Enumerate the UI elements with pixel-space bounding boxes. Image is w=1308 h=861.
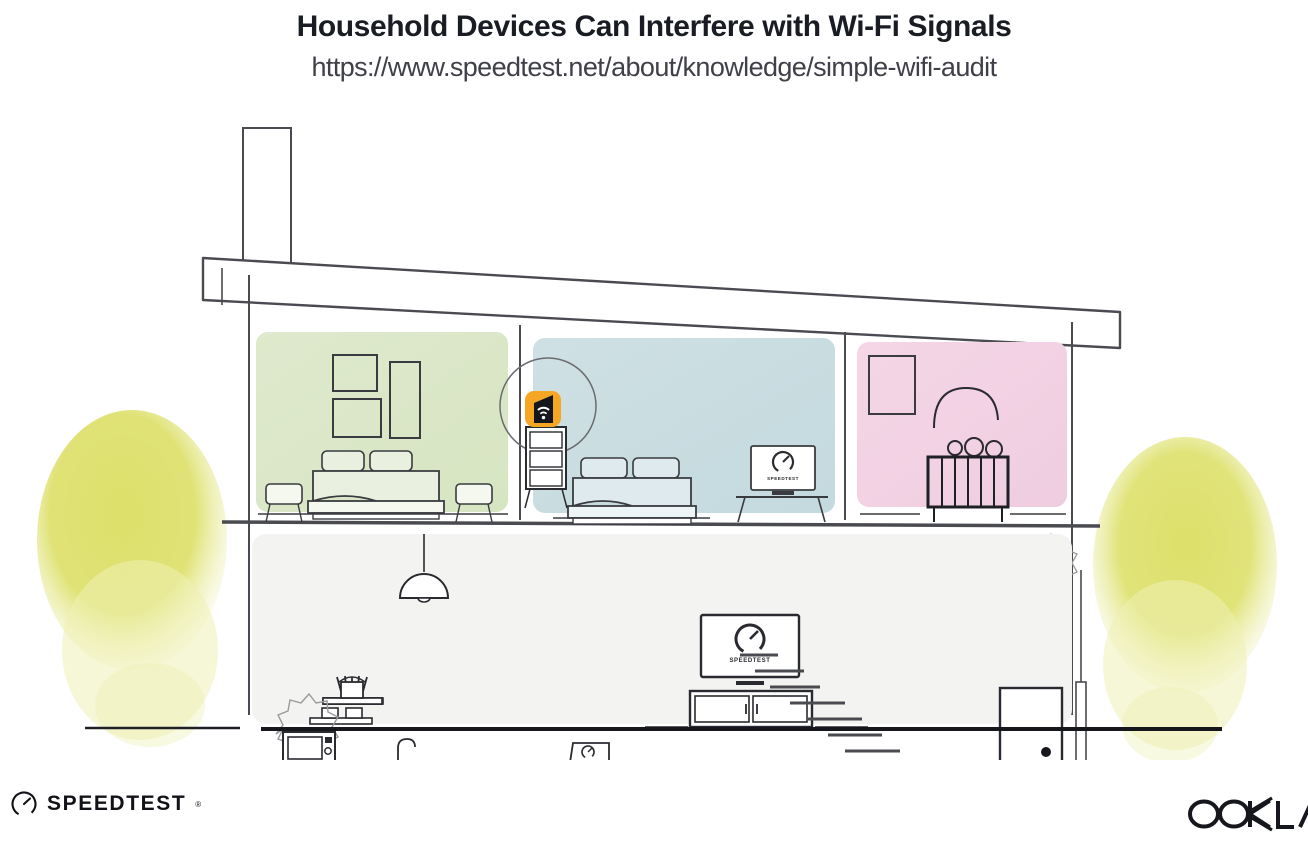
room-blue-bedroom: SPEEDTEST (533, 338, 835, 524)
tree-left (37, 410, 227, 747)
house-illustration: SPEEDTEST (0, 110, 1308, 760)
laptop: SPEEDTEST (564, 743, 614, 760)
tree-right (1093, 437, 1277, 760)
ookla-wordmark-icon (1184, 792, 1308, 832)
room-ground-floor: SPEEDTEST SPEEDTEST (252, 534, 1086, 760)
room-green-bedroom (256, 332, 508, 522)
speedtest-wordmark: SPEEDTEST (47, 792, 186, 816)
infographic-page: Household Devices Can Interfere with Wi-… (0, 0, 1308, 861)
door-knob-icon (1041, 747, 1051, 757)
speedometer-icon (10, 790, 38, 818)
header: Household Devices Can Interfere with Wi-… (0, 0, 1308, 86)
wifi-router-icon (525, 391, 561, 427)
living-room-tv: SPEEDTEST (701, 615, 799, 685)
source-url: https://www.speedtest.net/about/knowledg… (0, 48, 1308, 86)
speedtest-registered-mark: ® (195, 800, 201, 809)
side-window (1076, 570, 1086, 760)
front-door (1000, 688, 1062, 760)
speedtest-logo: SPEEDTEST ® (10, 790, 201, 818)
monitor-screen-label: SPEEDTEST (767, 476, 799, 481)
footer: SPEEDTEST ® (0, 790, 1308, 850)
chimney (243, 128, 291, 276)
page-title: Household Devices Can Interfere with Wi-… (0, 8, 1308, 46)
ookla-logo (1184, 792, 1308, 837)
ground-line (85, 728, 1222, 729)
tv-screen-label: SPEEDTEST (729, 658, 770, 664)
nightstand-left (266, 484, 302, 522)
nightstand-right (456, 484, 492, 522)
